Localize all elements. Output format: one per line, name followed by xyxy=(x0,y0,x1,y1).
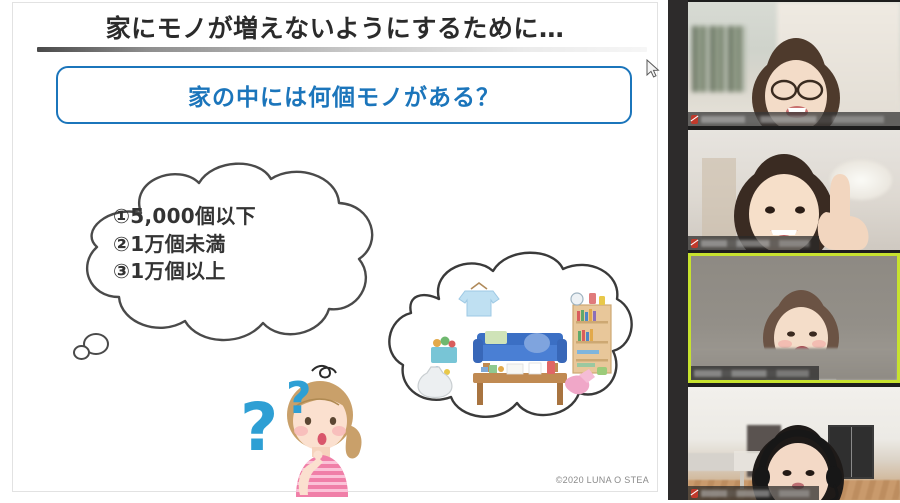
participant-4-name-label xyxy=(701,490,819,497)
participant-1-person xyxy=(688,2,900,126)
copyright-notice: ©2020 LUNA O STEA xyxy=(556,475,649,485)
answer-choices-list: ①5,000個以下 ②1万個未満 ③1万個以上 xyxy=(113,203,363,286)
slide-frame: 家にモノが増えないようにするために… 家の中には何個モノがある？ ①5,000個… xyxy=(12,2,658,492)
participant-tile-2[interactable] xyxy=(688,130,900,250)
mute-microphone-icon xyxy=(691,115,698,124)
question-text: 家の中には何個モノがある？ xyxy=(188,78,500,112)
title-underline-rule xyxy=(37,47,647,52)
answer-choices-thought-cloud: ①5,000個以下 ②1万個未満 ③1万個以上 xyxy=(71,161,401,351)
question-mark-large-icon: ? xyxy=(240,395,278,461)
participant-1-name-bar xyxy=(688,112,900,126)
participant-tile-3[interactable] xyxy=(688,253,900,383)
question-callout-box: 家の中には何個モノがある？ xyxy=(56,66,632,124)
participant-2-name-label xyxy=(701,240,819,247)
participant-2-person xyxy=(688,130,900,250)
slide-title: 家にモノが増えないようにするために… xyxy=(13,9,657,45)
answer-choice-3: ③1万個以上 xyxy=(113,258,363,286)
mouse-pointer-icon xyxy=(646,59,660,79)
mute-microphone-icon xyxy=(691,239,698,248)
participant-4-name-bar xyxy=(688,486,819,500)
screen-share-meeting-view: 家にモノが増えないようにするために… 家の中には何個モノがある？ ①5,000個… xyxy=(0,0,900,500)
participant-4-video-background xyxy=(688,387,900,500)
answer-choice-1: ①5,000個以下 xyxy=(113,203,363,231)
participant-1-name-label xyxy=(701,116,900,123)
thought-cloud-shape-room xyxy=(381,251,636,441)
thought-cloud-tail-bubble-small xyxy=(73,345,90,360)
question-mark-small-icon: ? xyxy=(286,377,312,421)
mute-microphone-icon xyxy=(691,489,698,498)
participant-3-name-bar xyxy=(691,366,819,380)
participant-3-name-label xyxy=(694,370,819,377)
participant-video-strip[interactable] xyxy=(688,0,900,500)
answer-choice-2: ②1万個未満 xyxy=(113,231,363,259)
participant-tile-4[interactable] xyxy=(688,387,900,500)
participant-3-video-background xyxy=(691,256,897,380)
shared-slide-region[interactable]: 家にモノが増えないようにするために… 家の中には何個モノがある？ ①5,000個… xyxy=(0,0,668,500)
messy-room-thought-cloud xyxy=(381,251,636,441)
screen-share-gutter xyxy=(668,0,688,500)
thinking-woman-illustration: ? ? xyxy=(238,363,378,498)
participant-4-person xyxy=(688,387,900,500)
participant-2-video-background xyxy=(688,130,900,250)
bookshelf-illustration xyxy=(571,293,611,373)
participant-tile-1[interactable] xyxy=(688,2,900,126)
participant-2-name-bar xyxy=(688,236,819,250)
participant-1-video-background xyxy=(688,2,900,126)
